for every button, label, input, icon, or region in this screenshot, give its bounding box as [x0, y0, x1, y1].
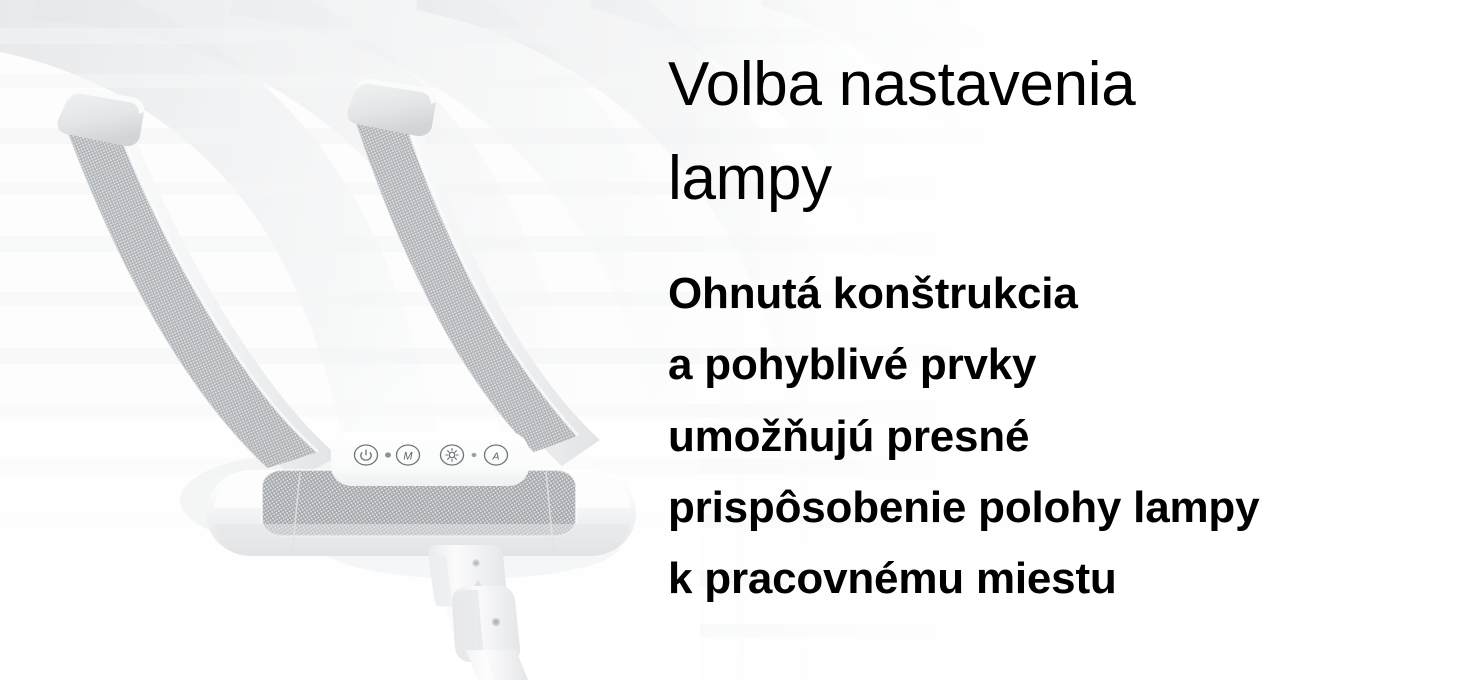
lamp-right-arm	[330, 79, 630, 490]
text-block: Volba nastavenia lampy Ohnutá konštrukci…	[668, 0, 1428, 680]
lamp-control-panel: M	[331, 432, 529, 486]
lamp-left-arm	[40, 89, 360, 500]
page-title: Volba nastavenia lampy	[668, 38, 1368, 226]
svg-text:M: M	[403, 451, 413, 463]
mode-led-dot	[385, 452, 391, 457]
svg-text:A: A	[491, 450, 499, 462]
auto-led-dot	[472, 453, 477, 457]
lamp-product-image: M	[0, 0, 680, 680]
description-text: Ohnutá konštrukcia a pohyblivé prvky umo…	[668, 258, 1408, 614]
promo-banner: M	[0, 0, 1460, 680]
